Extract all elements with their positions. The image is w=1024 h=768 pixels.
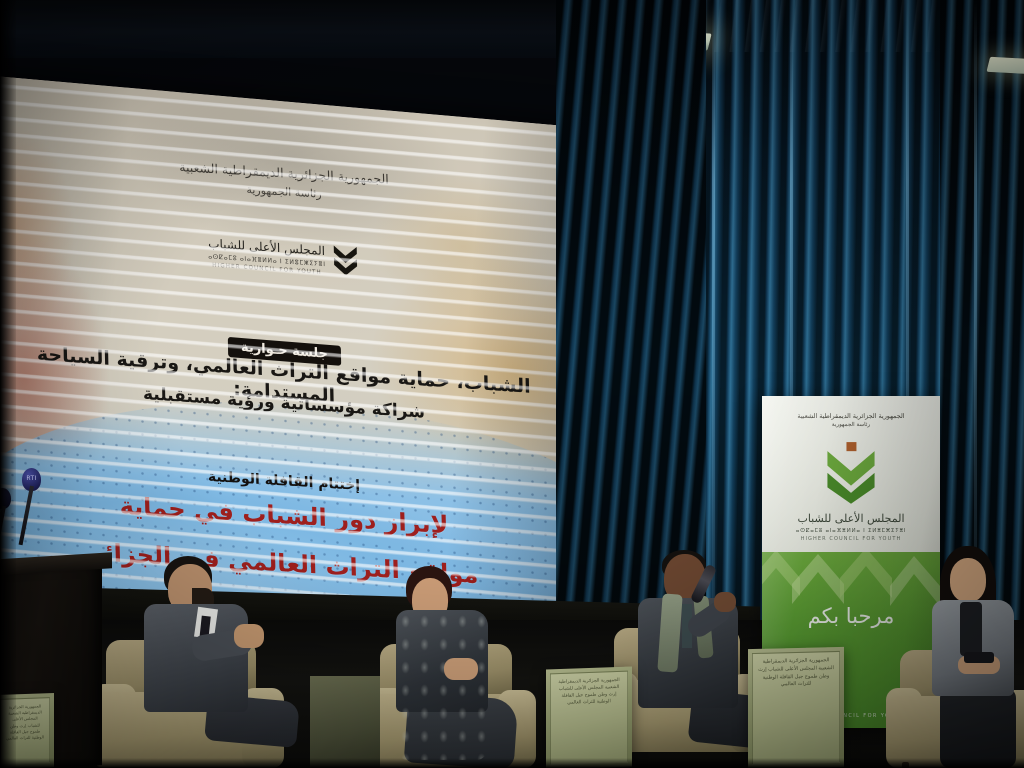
side-table [310, 676, 380, 768]
decorative-plinth: الجمهورية الجزائرية الديمقراطية الشعبية … [748, 647, 844, 768]
tablet-device [964, 652, 994, 663]
panelist-woman-patterned-dress [396, 566, 526, 766]
stage-photo: الجمهورية الجزائرية الديمقراطية الشعبية … [0, 0, 1024, 768]
press-mic-flag-label: RTI [24, 474, 39, 483]
moderator-woman-grey-blazer [930, 546, 1024, 766]
ceiling-light-fixture [986, 57, 1024, 74]
plinth-manuscript-text: الجمهورية الجزائرية الديمقراطية الشعبية … [556, 677, 622, 759]
plinth-manuscript-text: الجمهورية الجزائرية الديمقراطية الشعبية … [758, 657, 834, 759]
frame-shadow-bottom [0, 758, 1024, 768]
decorative-plinth: الجمهورية الجزائرية الديمقراطية الشعبية … [546, 666, 632, 768]
chevron-logo-icon [332, 243, 360, 275]
press-microphone: RTI [22, 468, 41, 491]
panelist-man-grey-suit [140, 556, 290, 768]
higher-council-for-youth-logo: المجلس الأعلى للشباب ⴰⵙⵇⴰⵎⵓ ⴰⵏⴰⴼⴻⵍⵍⴰ ⵏ ⵉ… [0, 212, 574, 299]
state-emblem: الجمهورية الجزائرية الديمقراطية الشعبية … [0, 140, 574, 224]
frame-shadow-left [0, 0, 16, 768]
